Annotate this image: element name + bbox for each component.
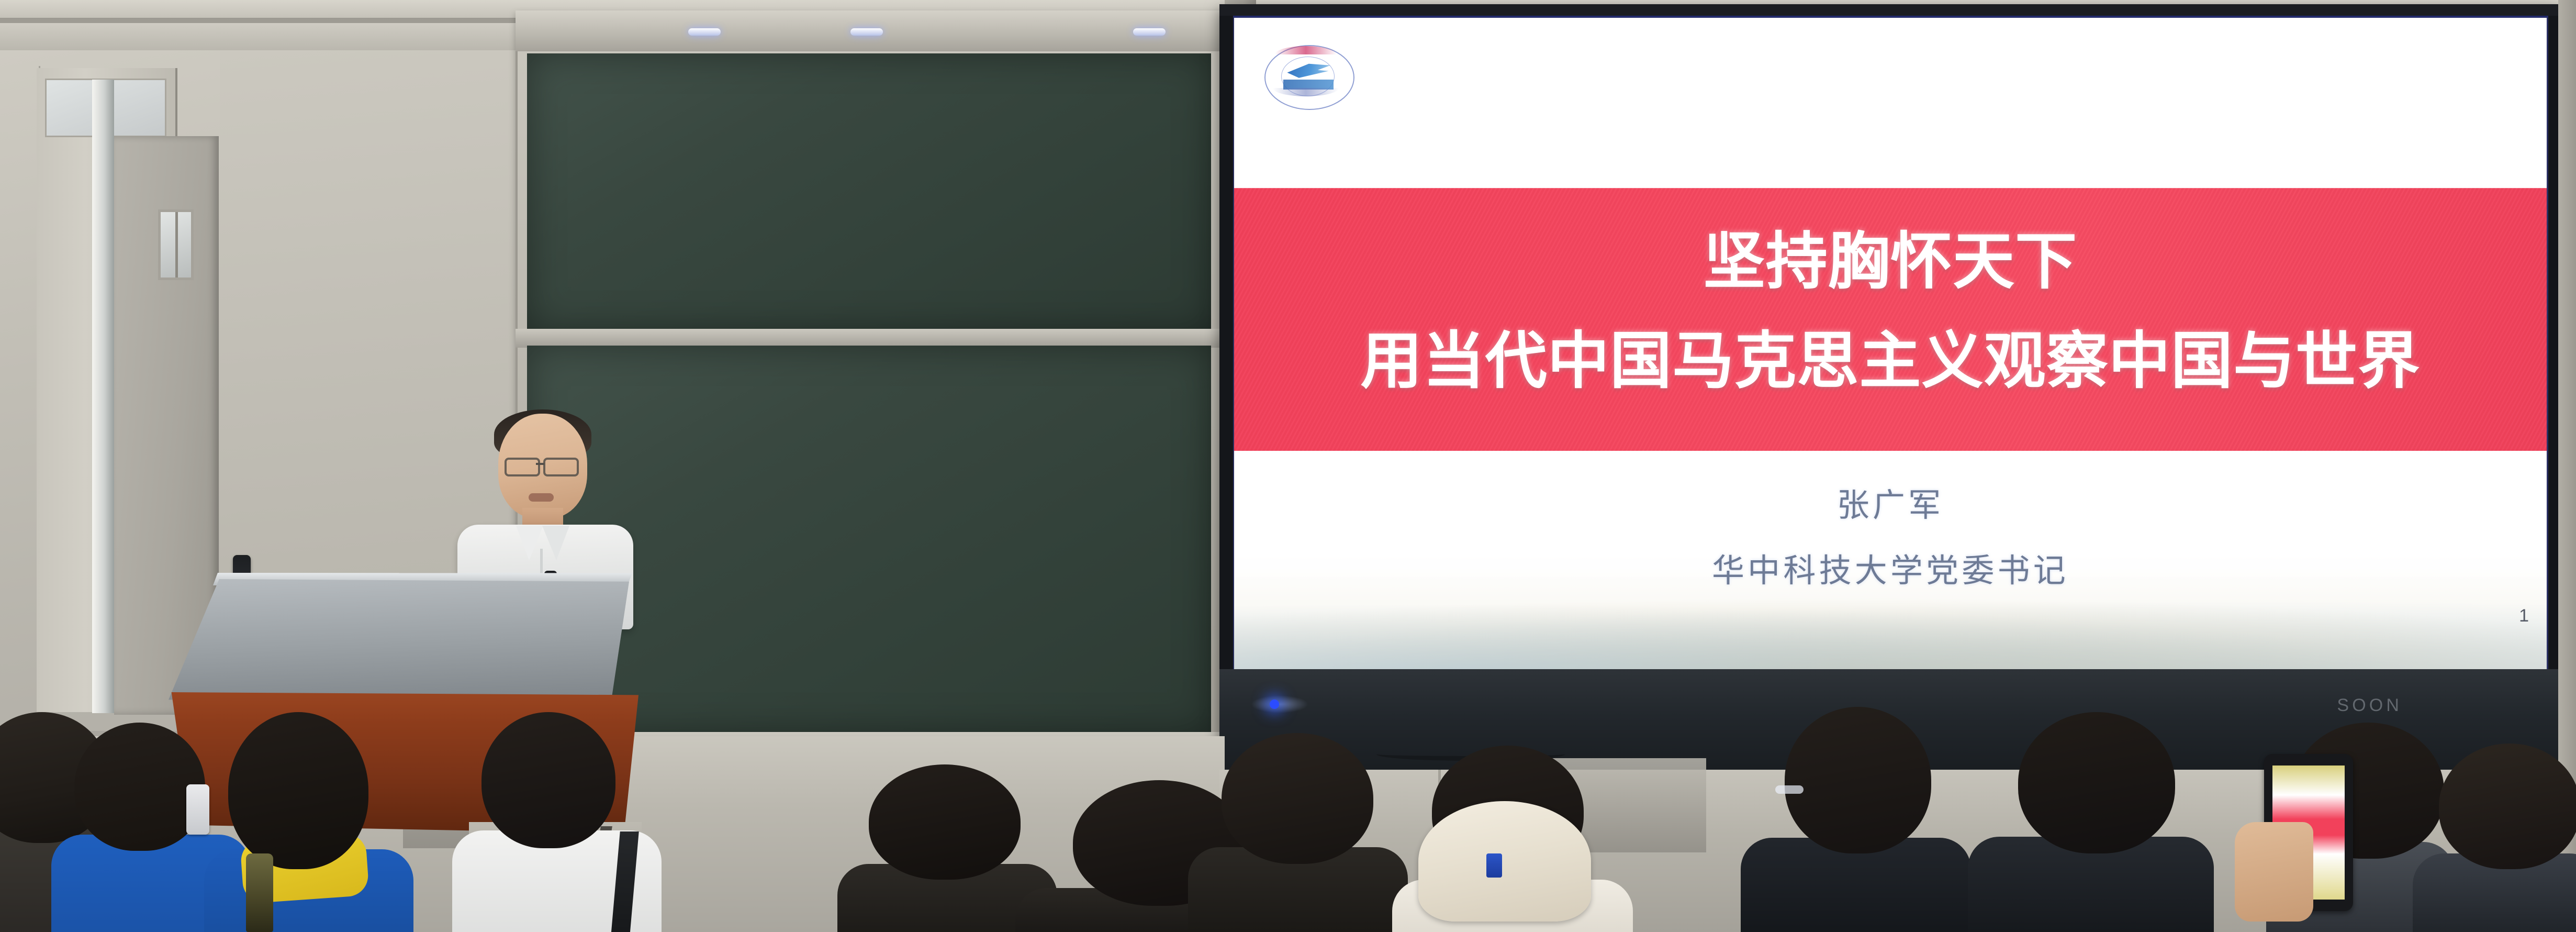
baseball-cap xyxy=(1418,801,1591,922)
smartphone-icon xyxy=(186,784,209,835)
audience-head xyxy=(1785,707,1931,853)
chalkboard-middle-rail xyxy=(516,329,1225,348)
audience-head xyxy=(869,764,1021,880)
power-led-icon xyxy=(1270,700,1279,709)
eyeglasses-icon xyxy=(543,458,579,476)
presentation-display[interactable]: 坚持胸怀天下 用当代中国马克思主义观察中国与世界 张广军 华中科技大学党委书记 … xyxy=(1219,4,2559,774)
presentation-slide: 坚持胸怀天下 用当代中国马克思主义观察中国与世界 张广军 华中科技大学党委书记 … xyxy=(1234,18,2547,671)
audience-member xyxy=(2418,744,2576,932)
audience-member xyxy=(209,712,408,932)
audience-member xyxy=(1748,707,1968,932)
audience-head xyxy=(2018,712,2175,853)
board-lamp-icon xyxy=(688,28,721,36)
water-bottle xyxy=(246,853,273,932)
slide-presenter-affiliation: 华中科技大学党委书记 xyxy=(1234,544,2547,591)
audience-head xyxy=(228,712,368,869)
chalkboard-top-rail xyxy=(516,10,1225,51)
chalkboard-panel-upper xyxy=(527,53,1211,331)
audience-member xyxy=(461,712,659,932)
power-led-glow xyxy=(1251,695,1308,713)
audience-head xyxy=(2439,744,2576,869)
presenter-mouth xyxy=(529,493,554,502)
eyeglasses-icon xyxy=(1775,785,1804,794)
board-lamp-icon xyxy=(850,28,883,36)
hand-holding-phone xyxy=(2235,822,2313,922)
cap-logo-icon xyxy=(1486,853,1502,878)
slide-title-banner: 坚持胸怀天下 用当代中国马克思主义观察中国与世界 xyxy=(1234,188,2547,451)
display-screen[interactable]: 坚持胸怀天下 用当代中国马克思主义观察中国与世界 张广军 华中科技大学党委书记 … xyxy=(1233,16,2548,671)
eyeglasses-bridge xyxy=(536,463,544,465)
lecture-hall-photo: 坚持胸怀天下 用当代中国马克思主义观察中国与世界 张广军 华中科技大学党委书记 … xyxy=(0,0,2576,932)
audience-head xyxy=(481,712,615,848)
board-lamp-icon xyxy=(1133,28,1166,36)
slide-background-scene xyxy=(1234,514,2547,671)
eyeglasses-icon xyxy=(505,458,540,476)
door-gap-light xyxy=(92,80,114,713)
slide-page-number: 1 xyxy=(2519,606,2529,626)
slide-presenter-name: 张广军 xyxy=(1234,479,2547,526)
display-top-bezel xyxy=(1219,4,2559,16)
display-brand-label: SOON xyxy=(2337,695,2402,716)
audience-head xyxy=(74,723,205,851)
slide-title-line1: 坚持胸怀天下 xyxy=(1234,188,2547,293)
lectern-surface xyxy=(169,579,629,705)
audience-member xyxy=(1193,733,1403,932)
slide-title-line2: 用当代中国马克思主义观察中国与世界 xyxy=(1234,293,2547,392)
door-window xyxy=(158,209,194,280)
university-seal-icon xyxy=(1259,38,1359,116)
slide-title-block: 坚持胸怀天下 用当代中国马克思主义观察中国与世界 xyxy=(1234,188,2547,392)
audience-member xyxy=(1968,712,2209,932)
audience-member xyxy=(1403,723,1622,932)
audience-head xyxy=(1222,733,1373,864)
